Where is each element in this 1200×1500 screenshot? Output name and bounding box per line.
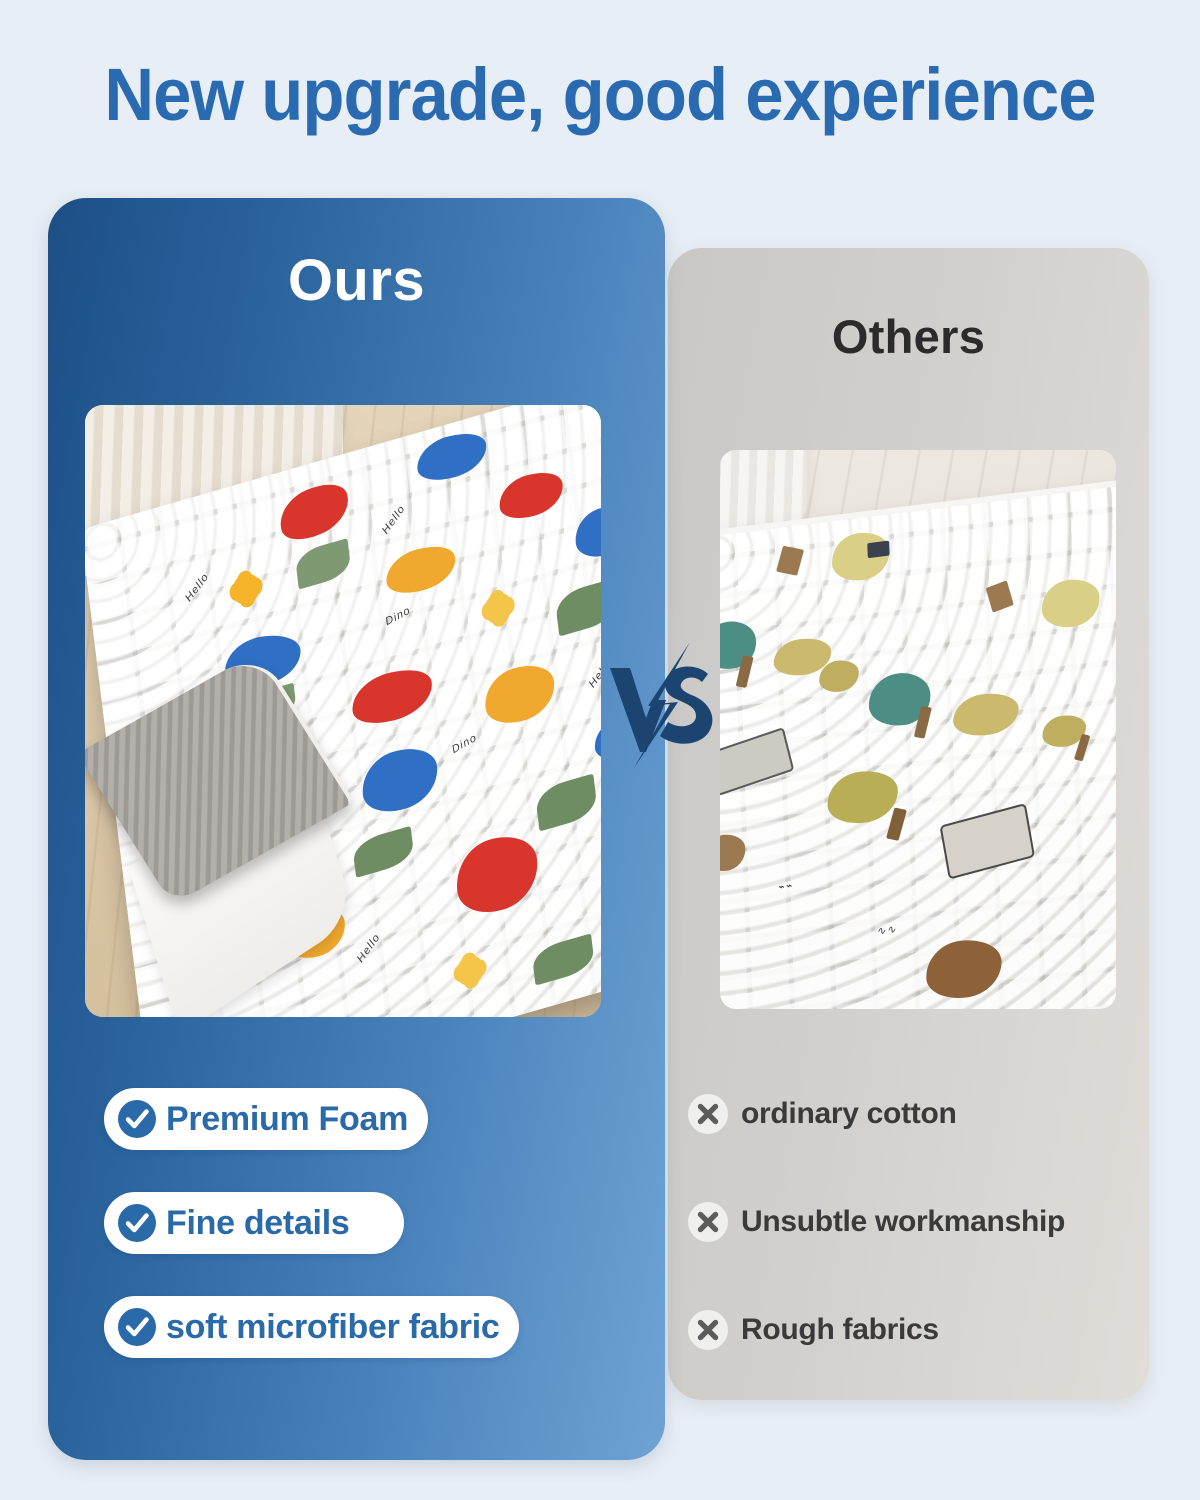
x-circle-icon [688,1310,728,1350]
pro-item-label: Fine details [166,1204,349,1243]
vs-lightning-icon [604,640,724,770]
x-circle-icon [688,1202,728,1242]
motif-script-text: ∿∿ [876,923,897,939]
others-product-photo: ⌁⌁ ∿∿ [720,450,1116,1009]
ours-product-photo: Hello Hello Dino Hello Dino Dino [85,405,601,1017]
con-item: Unsubtle workmanship [688,1196,1148,1248]
pro-item: Fine details [104,1192,404,1254]
ours-feature-list: Premium Foam Fine details soft microfibe… [104,1088,614,1358]
check-circle-icon [118,1100,156,1138]
pro-item: soft microfiber fabric [104,1296,519,1358]
others-heading: Others [668,310,1149,364]
pro-item: Premium Foam [104,1088,428,1150]
x-circle-icon [688,1094,728,1134]
page-title: New upgrade, good experience [42,52,1158,138]
con-item-label: ordinary cotton [741,1097,957,1131]
pro-item-label: Premium Foam [166,1100,408,1139]
check-circle-icon [118,1308,156,1346]
con-item-label: Unsubtle workmanship [741,1205,1065,1239]
others-mat: ⌁⌁ ∿∿ [720,477,1116,1009]
check-circle-icon [118,1204,156,1242]
motif-script-text: ⌁⌁ [778,878,794,893]
ours-panel: Ours Hello Hello Dino Hello Din [48,198,665,1460]
pro-item-label: soft microfiber fabric [166,1308,499,1347]
others-feature-list: ordinary cotton Unsubtle workmanship Rou… [688,1088,1148,1356]
con-item: Rough fabrics [688,1304,1148,1356]
motif-roof [867,540,890,558]
con-item-label: Rough fabrics [741,1313,939,1347]
con-item: ordinary cotton [688,1088,1148,1140]
others-panel: Others ⌁⌁ [668,248,1149,1400]
ours-heading: Ours [48,249,665,313]
